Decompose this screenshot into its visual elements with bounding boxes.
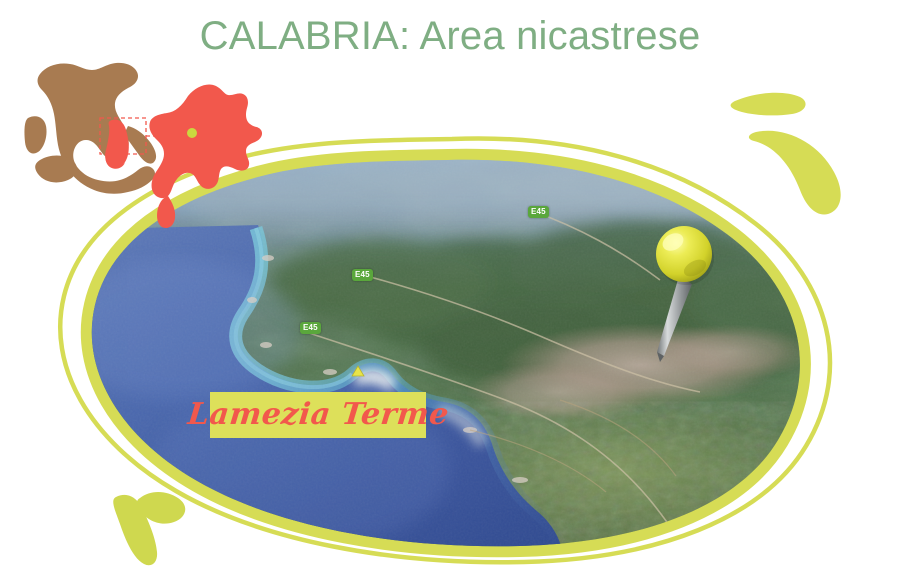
- city-label-text: Lamezia Terme: [186, 400, 450, 430]
- road-shield-label: E45: [355, 271, 370, 279]
- poster-canvas: CALABRIA: Area nicastrese E45 E45 E45 La…: [0, 0, 900, 579]
- city-label-lamezia-terme: Lamezia Terme: [210, 392, 426, 438]
- road-shield-e45-north[interactable]: E45: [528, 206, 549, 218]
- road-shield-label: E45: [303, 324, 318, 332]
- page-title: CALABRIA: Area nicastrese: [0, 14, 900, 59]
- artwork-layer: [0, 0, 900, 579]
- road-shield-e45-middle[interactable]: E45: [352, 269, 373, 281]
- road-shield-label: E45: [531, 208, 546, 216]
- road-shield-e45-south[interactable]: E45: [300, 322, 321, 334]
- brush-stroke-top-right-long: [749, 131, 841, 215]
- brush-stroke-top-right-short: [731, 93, 806, 116]
- italy-mainland-shape: [24, 63, 156, 194]
- location-dot[interactable]: [187, 128, 198, 139]
